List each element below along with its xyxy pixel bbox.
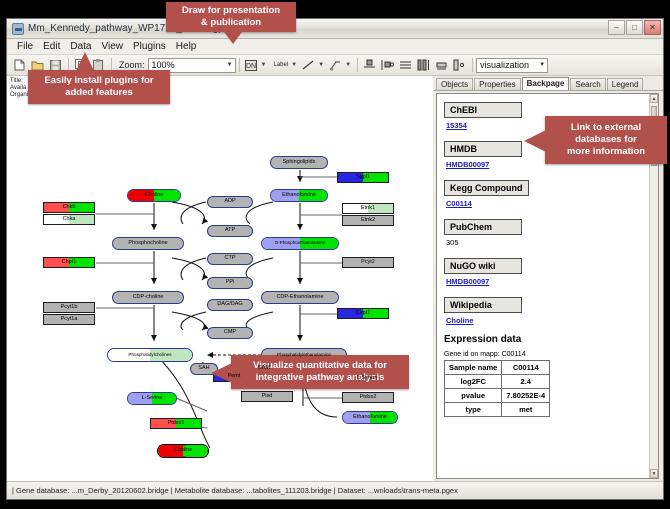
exp-row-value: 7.80252E-4: [502, 389, 550, 403]
application-icon: [12, 23, 24, 35]
metabolite-node-atp[interactable]: ATP: [207, 225, 253, 237]
menu-bar: File Edit Data View Plugins Help: [7, 39, 663, 55]
callout-draw: Draw for presentation& publication: [166, 2, 296, 32]
distribute-icon[interactable]: [379, 57, 395, 73]
gene-node-pcyt1b[interactable]: Pcyt1b: [43, 302, 95, 313]
gene-node-chkb[interactable]: Chkb: [43, 202, 95, 213]
node-label: CDP-choline: [133, 295, 164, 301]
tab-objects[interactable]: Objects: [436, 78, 473, 90]
callout-plugins-pointer: [76, 52, 94, 71]
gene-node-etnk1[interactable]: Etnk1: [342, 203, 394, 214]
table-row: pvalue 7.80252E-4: [445, 389, 550, 403]
db-header-pubchem: PubChem: [444, 219, 522, 235]
node-label: Sphingolipids: [283, 160, 316, 166]
chevron-down-icon[interactable]: ▼: [345, 62, 351, 68]
expression-data-table: Sample name C00114 log2FC 2.4 pvalue 7.8…: [444, 360, 550, 417]
expression-data-title: Expression data: [444, 334, 649, 345]
metabolite-node-adp[interactable]: ADP: [207, 196, 253, 208]
db-link-kegg[interactable]: C00114: [446, 199, 649, 208]
maximize-button[interactable]: □: [626, 20, 643, 35]
db-header-chebi: ChEBI: [444, 102, 522, 118]
exp-row-value: 2.4: [502, 375, 550, 389]
menu-help[interactable]: Help: [171, 39, 202, 54]
metabolite-node-ptdcholines[interactable]: Phosphatidylcholines: [107, 348, 193, 362]
exp-row-value: met: [502, 403, 550, 417]
window-titlebar: Mm_Kennedy_pathway_WP1771_45176.gpml – □…: [7, 19, 663, 39]
chevron-down-icon: ▼: [227, 62, 233, 68]
node-label: Pcyt1b: [61, 305, 78, 311]
db-link-wikipedia[interactable]: Choline: [446, 316, 649, 325]
label-tool-label: Label: [273, 62, 288, 68]
exp-row-label: Sample name: [445, 361, 502, 375]
node-label: CMP: [224, 330, 236, 336]
callout-link: Link to externaldatabases formore inform…: [545, 116, 667, 164]
node-label: Pisd: [262, 394, 273, 400]
interaction-icon[interactable]: [327, 57, 343, 73]
screenshot-root: Mm_Kennedy_pathway_WP1771_45176.gpml – □…: [0, 0, 670, 509]
db-value-pubchem: 305: [446, 238, 649, 247]
gene-node-pisd[interactable]: Pisd: [241, 391, 293, 402]
node-label: Sgpl1: [356, 175, 370, 181]
metabolite-node-dagdag[interactable]: DAG/DAG: [207, 299, 253, 311]
metabolite-node-phosphocholine[interactable]: Phosphocholine: [112, 237, 184, 250]
node-label: CDP-Ethanolamine: [276, 295, 323, 301]
callout-link-pointer: [524, 130, 546, 152]
selection-handle[interactable]: [182, 456, 186, 458]
menu-edit[interactable]: Edit: [38, 39, 65, 54]
status-text: | Gene database: ...m_Derby_20120602.bri…: [12, 486, 458, 495]
close-button[interactable]: ✕: [644, 20, 661, 35]
node-label: SAH: [198, 366, 209, 372]
chevron-down-icon[interactable]: ▼: [291, 62, 297, 68]
node-label: Ptdss1: [168, 421, 185, 427]
db-header-kegg: Kegg Compound: [444, 180, 529, 196]
node-label: Ethanolamine: [282, 193, 316, 199]
selection-handle[interactable]: [157, 444, 159, 446]
metabolite-node-l-serine-left[interactable]: L-Serine: [127, 392, 177, 405]
stack-icon[interactable]: [397, 57, 413, 73]
node-label: Cept1: [356, 311, 371, 317]
new-file-icon[interactable]: [11, 57, 27, 73]
menu-plugins[interactable]: Plugins: [128, 39, 171, 54]
node-label: Choline: [174, 448, 193, 454]
chevron-down-icon[interactable]: ▼: [261, 62, 267, 68]
db-header-wikipedia: Wikipedia: [444, 297, 522, 313]
gene-id-on-mapp: Gene id on mapp: C00114: [444, 351, 649, 358]
metabolite-node-ethanolamine[interactable]: Ethanolamine: [270, 189, 328, 202]
scroll-up-icon[interactable]: ▲: [650, 94, 658, 103]
selection-handle[interactable]: [182, 444, 186, 446]
node-label: DAG/DAG: [217, 302, 242, 308]
exp-row-label: pvalue: [445, 389, 502, 403]
node-label: Chpt1: [62, 260, 77, 266]
node-label: SAM: [258, 366, 270, 372]
toolbar-separator: [239, 58, 240, 72]
metabolite-node-cdp-eth[interactable]: CDP-Ethanolamine: [261, 291, 339, 304]
node-label: Pcyt2: [361, 260, 375, 266]
node-label: O-Phosphoethanolamine: [275, 241, 326, 246]
gene-node-cept1[interactable]: Cept1: [337, 308, 389, 319]
node-label: Phosphatidylcholines: [128, 353, 171, 358]
node-label: L-Serine: [142, 396, 163, 402]
node-label: Choline: [145, 193, 164, 199]
node-label: Etnk2: [361, 218, 375, 224]
minimize-button[interactable]: –: [608, 20, 625, 35]
node-label: Phosphatidylethanolamine: [277, 353, 331, 358]
tab-search[interactable]: Search: [570, 78, 605, 90]
gene-node-etnk2[interactable]: Etnk2: [342, 215, 394, 226]
exp-row-value: C00114: [502, 361, 550, 375]
gene-node-pcyt2[interactable]: Pcyt2: [342, 257, 394, 268]
node-label: Chka: [63, 217, 76, 223]
gene-node-chka[interactable]: Chka: [43, 214, 95, 225]
node-label: CTP: [225, 256, 236, 262]
exp-row-label: type: [445, 403, 502, 417]
visualization-value: visualization: [480, 60, 529, 70]
metabolite-node-choline-sel[interactable]: Choline: [157, 444, 209, 458]
table-row: Sample name C00114: [445, 361, 550, 375]
node-label: Pcyt1a: [61, 317, 78, 323]
gene-node-sgpl1[interactable]: Sgpl1: [337, 172, 389, 183]
gene-node-chpt1[interactable]: Chpt1: [43, 257, 95, 268]
gene-node-pcyt1a[interactable]: Pcyt1a: [43, 314, 95, 325]
pathway-canvas[interactable]: Title: Availa Organi: [7, 76, 435, 481]
selection-handle[interactable]: [157, 450, 159, 454]
spacing-icon[interactable]: [415, 57, 431, 73]
node-label: Phosphocholine: [128, 241, 167, 247]
side-panel-tabs: Objects Properties Backpage Search Legen…: [433, 76, 663, 91]
metabolite-node-cmp[interactable]: CMP: [207, 327, 253, 339]
node-label: Ptdss2: [360, 395, 377, 401]
node-label: L-Serine: [357, 376, 378, 382]
line-icon[interactable]: [300, 57, 316, 73]
node-label: PPi: [226, 280, 235, 286]
svg-text:DN: DN: [245, 63, 255, 70]
exp-row-label: log2FC: [445, 375, 502, 389]
metabolite-node-ctp[interactable]: CTP: [207, 253, 253, 265]
menu-view[interactable]: View: [96, 39, 128, 54]
tab-properties[interactable]: Properties: [474, 78, 520, 90]
table-row: log2FC 2.4: [445, 375, 550, 389]
node-label: Ethanolamine: [353, 415, 387, 421]
order-icon[interactable]: [451, 57, 467, 73]
metabolite-node-cdp-choline[interactable]: CDP-choline: [112, 291, 184, 304]
size-icon[interactable]: [433, 57, 449, 73]
tab-legend[interactable]: Legend: [607, 78, 644, 90]
metabolite-node-choline-top[interactable]: Choline: [127, 189, 181, 202]
callout-plugins-text: Easily install plugins foradded features: [44, 75, 153, 99]
node-label: Chkb: [63, 205, 76, 211]
gene-node-ptdss2[interactable]: Ptdss2: [342, 392, 394, 403]
db-header-hmdb: HMDB: [444, 141, 522, 157]
chevron-down-icon[interactable]: ▼: [318, 62, 324, 68]
node-label: Etnk1: [361, 206, 375, 212]
zoom-label: Zoom:: [119, 60, 145, 70]
metabolite-node-o-phosphoeth[interactable]: O-Phosphoethanolamine: [261, 237, 339, 250]
callout-draw-text: Draw for presentation& publication: [182, 5, 280, 29]
gene-node-ptdss1[interactable]: Ptdss1: [150, 418, 202, 429]
metabolite-node-ppi[interactable]: PPi: [207, 277, 253, 289]
chevron-down-icon: ▼: [539, 62, 545, 68]
menu-file[interactable]: File: [12, 39, 38, 54]
callout-link-text: Link to externaldatabases formore inform…: [567, 122, 645, 158]
node-label: ATP: [225, 228, 235, 234]
data-node-icon[interactable]: DN: [243, 57, 259, 73]
toolbar-separator: [357, 58, 358, 72]
db-link-nugo[interactable]: HMDB00097: [446, 277, 649, 286]
node-label: Pemt: [228, 374, 241, 380]
scroll-down-icon[interactable]: ▼: [650, 469, 658, 478]
visualization-combo[interactable]: visualization ▼: [476, 58, 548, 73]
zoom-value: 100%: [152, 60, 175, 70]
callout-draw-pointer: [224, 32, 242, 44]
tab-backpage[interactable]: Backpage: [522, 77, 570, 90]
metabolite-node-ethanolamine-2[interactable]: Ethanolamine: [342, 411, 398, 424]
callout-plugins: Easily install plugins foradded features: [28, 70, 170, 104]
align-icon[interactable]: [361, 57, 377, 73]
callout-visualize: Visualize quantitative data forintegrati…: [231, 355, 409, 389]
window-controls: – □ ✕: [607, 20, 661, 35]
toolbar-separator: [472, 58, 473, 72]
metabolite-node-sphingolipids[interactable]: Sphingolipids: [270, 156, 328, 169]
db-header-nugo: NuGO wiki: [444, 258, 522, 274]
node-label: ADP: [224, 199, 235, 205]
table-row: type met: [445, 403, 550, 417]
status-bar: | Gene database: ...m_Derby_20120602.bri…: [7, 481, 663, 499]
